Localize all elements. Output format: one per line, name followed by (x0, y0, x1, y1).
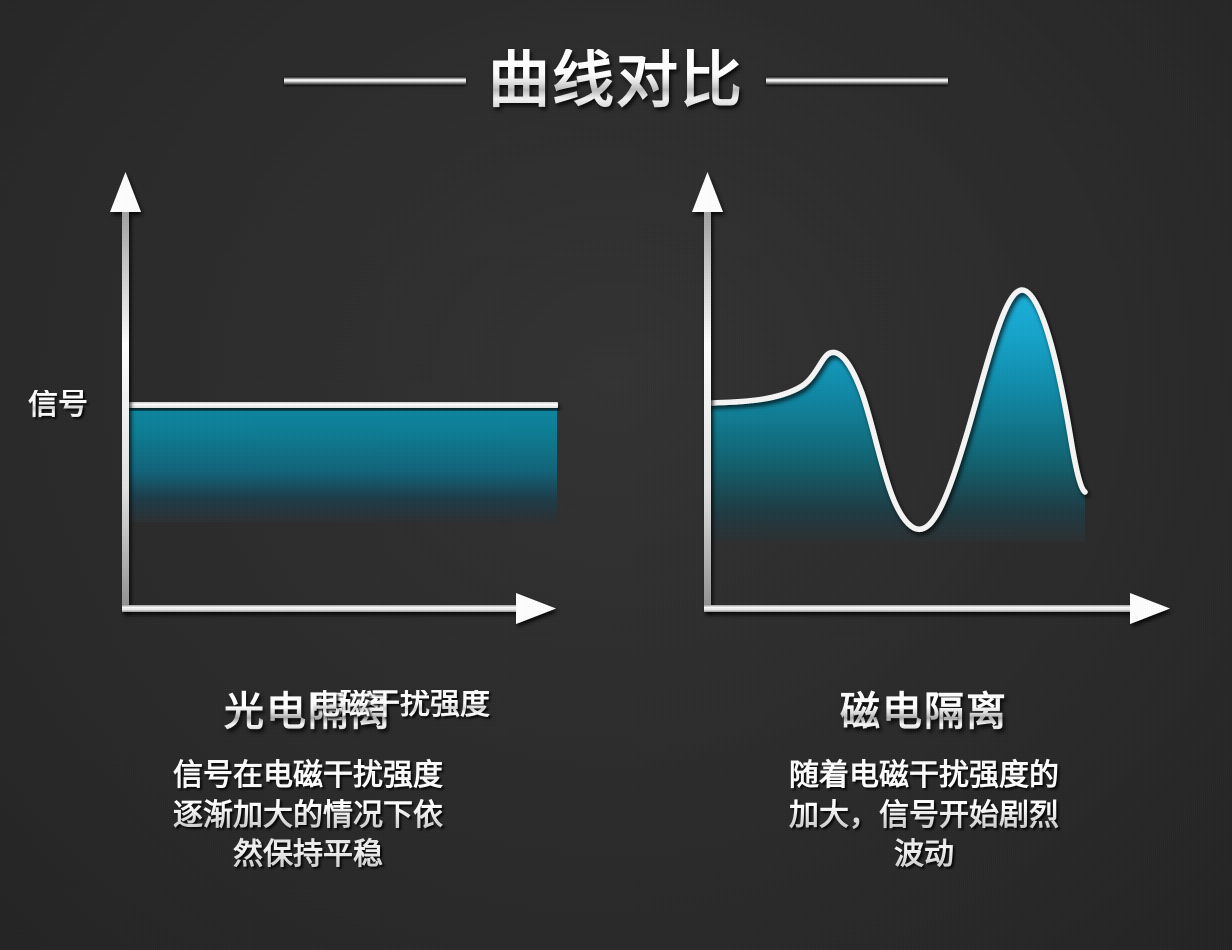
x-axis-label: 电磁干扰强度 (310, 690, 490, 720)
caption-magnetic: 磁电隔离 随着电磁干扰强度的 加大，信号开始剧烈 波动 (616, 690, 1232, 875)
y-axis-label: 信号 (28, 390, 88, 420)
x-axis (122, 593, 556, 624)
caption-body: 随着电磁干扰强度的 加大，信号开始剧烈 波动 (616, 756, 1232, 875)
poster-canvas: 曲线对比 (0, 0, 1232, 950)
title-rule-left-icon (284, 76, 466, 85)
chart-optocoupler: 信号 电磁干扰强度 (0, 150, 616, 650)
caption-line: 加大，信号开始剧烈 (721, 796, 1127, 836)
chart-magnetic-svg (616, 150, 1232, 650)
caption-title: 光电隔离 (0, 690, 616, 734)
x-axis-arrow-icon (516, 593, 556, 624)
x-axis (704, 593, 1170, 624)
y-axis (110, 172, 141, 610)
caption-body: 信号在电磁干扰强度 逐渐加大的情况下依 然保持平稳 (0, 756, 616, 875)
x-axis-arrow-icon (1130, 593, 1170, 624)
title-rule-right-icon (766, 76, 948, 85)
caption-line: 随着电磁干扰强度的 (721, 756, 1127, 796)
y-axis-arrow-icon (692, 172, 723, 212)
area-fill-flat (127, 408, 557, 522)
chart-magnetic: 信号 电磁干扰强度 (616, 150, 1232, 650)
signal-curve-flat (126, 402, 558, 408)
y-axis (692, 172, 723, 610)
caption-line: 信号在电磁干扰强度 (105, 756, 511, 796)
page-title: 曲线对比 (0, 40, 1232, 120)
caption-line: 然保持平稳 (105, 835, 511, 875)
caption-title: 磁电隔离 (616, 690, 1232, 734)
panel-optocoupler: 信号 电磁干扰强度 光电隔离 信号在电磁干扰强度 逐渐加大的情况下依 然保持平稳 (0, 150, 616, 950)
caption-optocoupler: 光电隔离 信号在电磁干扰强度 逐渐加大的情况下依 然保持平稳 (0, 690, 616, 875)
title-text: 曲线对比 (488, 49, 744, 111)
y-axis-arrow-icon (110, 172, 141, 212)
caption-line: 波动 (721, 835, 1127, 875)
panel-magnetic: 信号 电磁干扰强度 磁电隔离 随着电磁干扰强度的 加大，信号开始剧烈 波动 (616, 150, 1232, 950)
chart-optocoupler-svg (0, 150, 616, 650)
caption-line: 逐渐加大的情况下依 (105, 796, 511, 836)
